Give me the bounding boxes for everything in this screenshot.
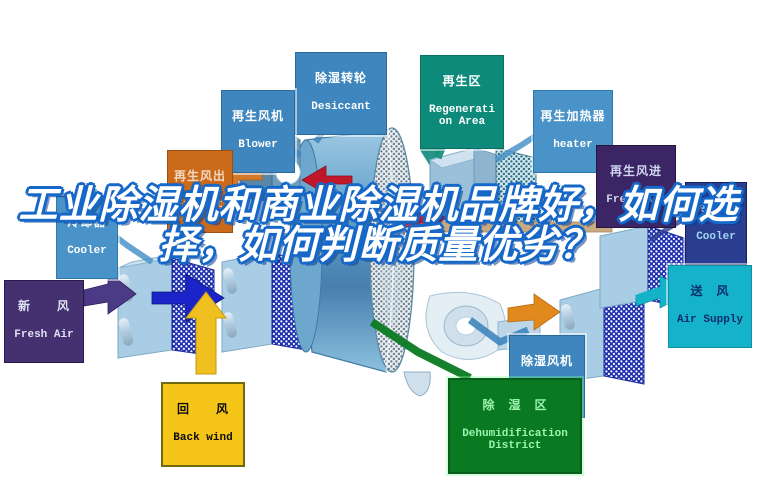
desiccant-rotor-wheel (290, 128, 430, 396)
label-fresh-air-cn: 新 风 (9, 300, 79, 313)
label-air-supply-cn: 送 风 (673, 285, 747, 298)
label-fresh-air: 新 风 Fresh Air (4, 280, 84, 363)
label-exhaust: 再生风出 Exhaust (167, 150, 233, 233)
label-air-supply-en: Air Supply (673, 315, 747, 327)
label-back-wind-cn: 回 风 (167, 403, 239, 416)
label-exhaust-en: Exhaust (172, 200, 228, 212)
label-cooler-left-cn: 冷却器 (61, 216, 113, 229)
label-cooler-right-cn: 冷却器 (690, 202, 742, 215)
label-desiccant-rotor-en: Desiccant (300, 102, 382, 114)
label-regeneration-area-en: Regenerati on Area (425, 105, 499, 128)
label-regeneration-air-inlet-en: Fresh Air (601, 195, 671, 207)
label-regeneration-blower-en: Blower (226, 140, 290, 152)
label-desiccant-rotor: 除湿转轮 Desiccant (295, 52, 387, 135)
label-dehumidification-district-cn: 除 湿 区 (454, 399, 576, 412)
label-cooler-right: 冷却器 Cooler (685, 182, 747, 265)
label-air-supply: 送 风 Air Supply (668, 265, 752, 348)
label-regeneration-area: 再生区 Regenerati on Area (420, 55, 504, 149)
label-dehumidification-district: 除 湿 区 Dehumidification District (448, 378, 582, 474)
label-back-wind: 回 风 Back wind (161, 382, 245, 467)
label-regeneration-area-cn: 再生区 (425, 75, 499, 88)
label-cooler-left: 冷却器 Cooler (56, 196, 118, 279)
label-fresh-air-en: Fresh Air (9, 330, 79, 342)
label-dehumidification-blower-cn: 除湿风机 (514, 355, 580, 368)
label-dehumidification-district-en: Dehumidification District (454, 429, 576, 452)
label-cooler-left-en: Cooler (61, 246, 113, 258)
label-regeneration-heater-cn: 再生加热器 (538, 110, 608, 123)
label-regeneration-air-inlet: 再生风进 Fresh Air (596, 145, 676, 228)
label-desiccant-rotor-cn: 除湿转轮 (300, 72, 382, 85)
image-canvas: XT (0, 0, 757, 488)
label-cooler-right-en: Cooler (690, 232, 742, 244)
label-regeneration-blower-cn: 再生风机 (226, 110, 290, 123)
label-regeneration-air-inlet-cn: 再生风进 (601, 165, 671, 178)
label-exhaust-cn: 再生风出 (172, 170, 228, 183)
label-back-wind-en: Back wind (167, 433, 239, 445)
